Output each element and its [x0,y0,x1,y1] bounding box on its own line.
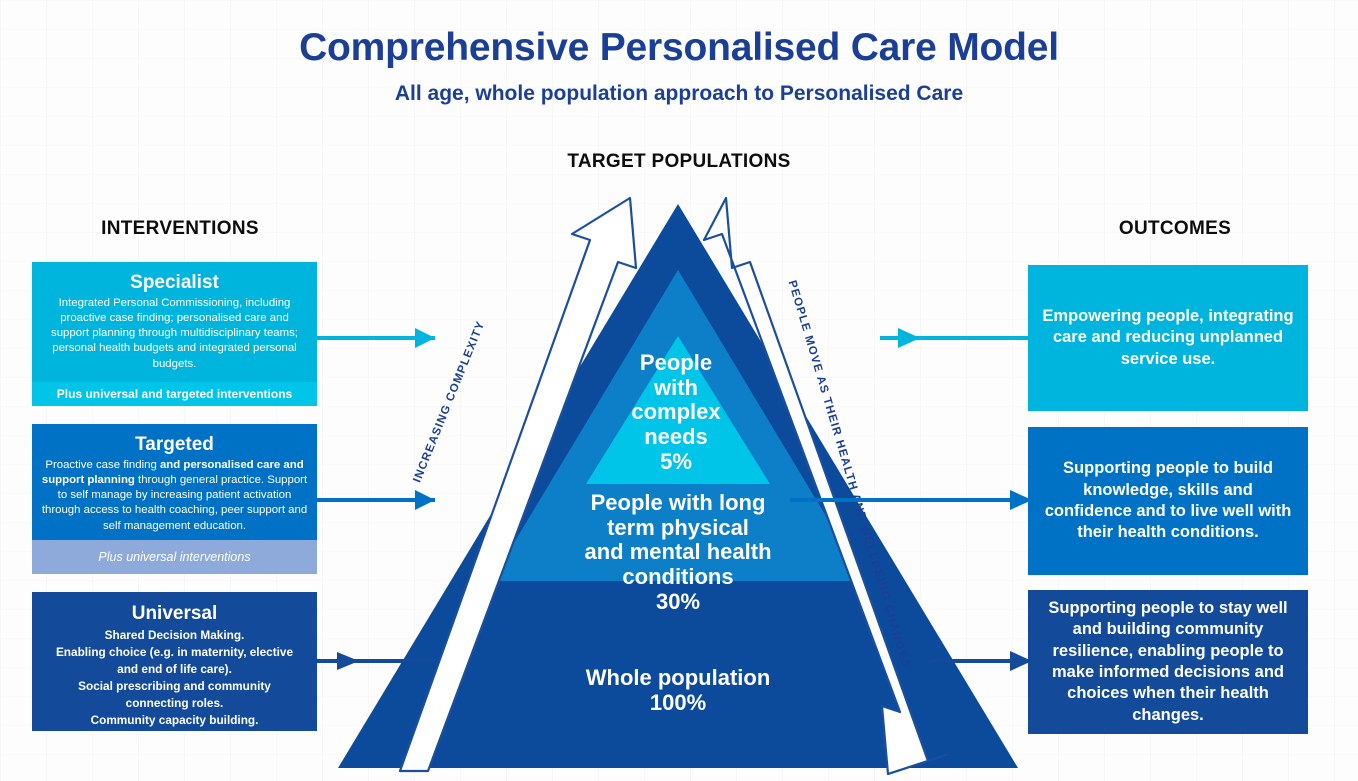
connector-arrow-specialist-left [315,325,435,351]
outcome-box-specialist[interactable]: Empowering people, integrating care and … [1028,265,1308,411]
outcome-box-targeted[interactable]: Supporting people to build knowledge, sk… [1028,427,1308,575]
page-title: Comprehensive Personalised Care Model [0,26,1358,70]
intervention-body-universal: Shared Decision Making. Enabling choice … [32,627,317,730]
intervention-box-specialist[interactable]: Specialist Integrated Personal Commissio… [32,262,317,406]
intervention-box-targeted[interactable]: Targeted Proactive case finding and pers… [32,424,317,574]
diagram-canvas: Comprehensive Personalised Care Model Al… [0,0,1358,781]
intervention-plus-band-targeted: Plus universal interventions [32,540,317,574]
connector-arrow-specialist-right [880,325,1032,351]
universal-line-1: Shared Decision Making. [105,628,245,642]
universal-line-4: Social prescribing and community [78,679,271,693]
universal-line-5: connecting roles. [126,696,224,710]
column-heading-interventions: INTERVENTIONS [20,218,340,240]
intervention-title-specialist: Specialist [32,272,317,294]
intervention-title-universal: Universal [32,603,317,625]
universal-line-2: Enabling choice (e.g. in maternity, elec… [56,645,293,659]
column-heading-outcomes: OUTCOMES [1020,218,1330,240]
page-subtitle: All age, whole population approach to Pe… [0,82,1358,106]
universal-line-6: Community capacity building. [91,713,259,727]
intervention-box-universal[interactable]: Universal Shared Decision Making. Enabli… [32,592,317,731]
intervention-body-specialist: Integrated Personal Commissioning, inclu… [32,296,317,372]
connector-arrow-targeted-left [315,487,435,513]
connector-arrow-universal-right [930,648,1032,674]
connector-arrow-targeted-right [790,487,1032,513]
intervention-body-targeted: Proactive case finding and personalised … [32,458,317,534]
intervention-title-targeted: Targeted [32,434,317,456]
connector-arrow-universal-left [315,648,435,674]
universal-line-3: and end of life care). [117,662,232,676]
targeted-body-prefix: Proactive case finding [45,459,160,471]
outcome-box-universal[interactable]: Supporting people to stay well and build… [1028,590,1308,734]
column-heading-target-populations: TARGET POPULATIONS [479,151,879,173]
intervention-plus-band-specialist: Plus universal and targeted intervention… [32,382,317,406]
pyramid-graphic: People with complex needs 5% People with… [328,196,1028,776]
